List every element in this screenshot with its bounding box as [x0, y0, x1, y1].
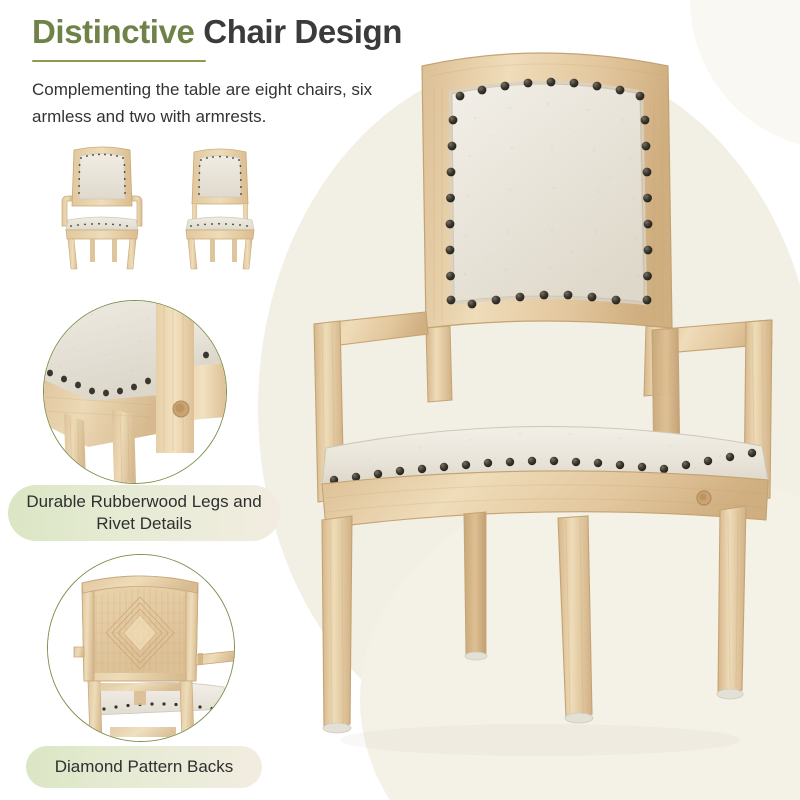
title-underline-rule — [32, 60, 206, 62]
callout-caption-legs-rivets: Durable Rubberwood Legs and Rivet Detail… — [8, 485, 280, 541]
armchair-hero-art — [300, 28, 780, 768]
armless-chair-thumbnail-art — [170, 140, 270, 272]
product-feature-card: Distinctive Chair Design Complementing t… — [0, 0, 800, 800]
chair-thumbnail-row — [40, 140, 270, 275]
armless-chair-thumbnail — [170, 140, 270, 272]
armchair-thumbnail — [52, 140, 152, 272]
title-accent-word: Distinctive — [32, 13, 195, 50]
callout-circle-legs-rivets — [43, 300, 227, 484]
legs-rivets-detail-art — [44, 301, 226, 483]
armchair-hero-image — [300, 28, 780, 768]
callout-caption-diamond-backs: Diamond Pattern Backs — [26, 746, 262, 788]
armchair-thumbnail-art — [52, 140, 152, 272]
callout-circle-diamond-backs — [47, 554, 235, 742]
diamond-backs-detail-art — [48, 555, 234, 741]
